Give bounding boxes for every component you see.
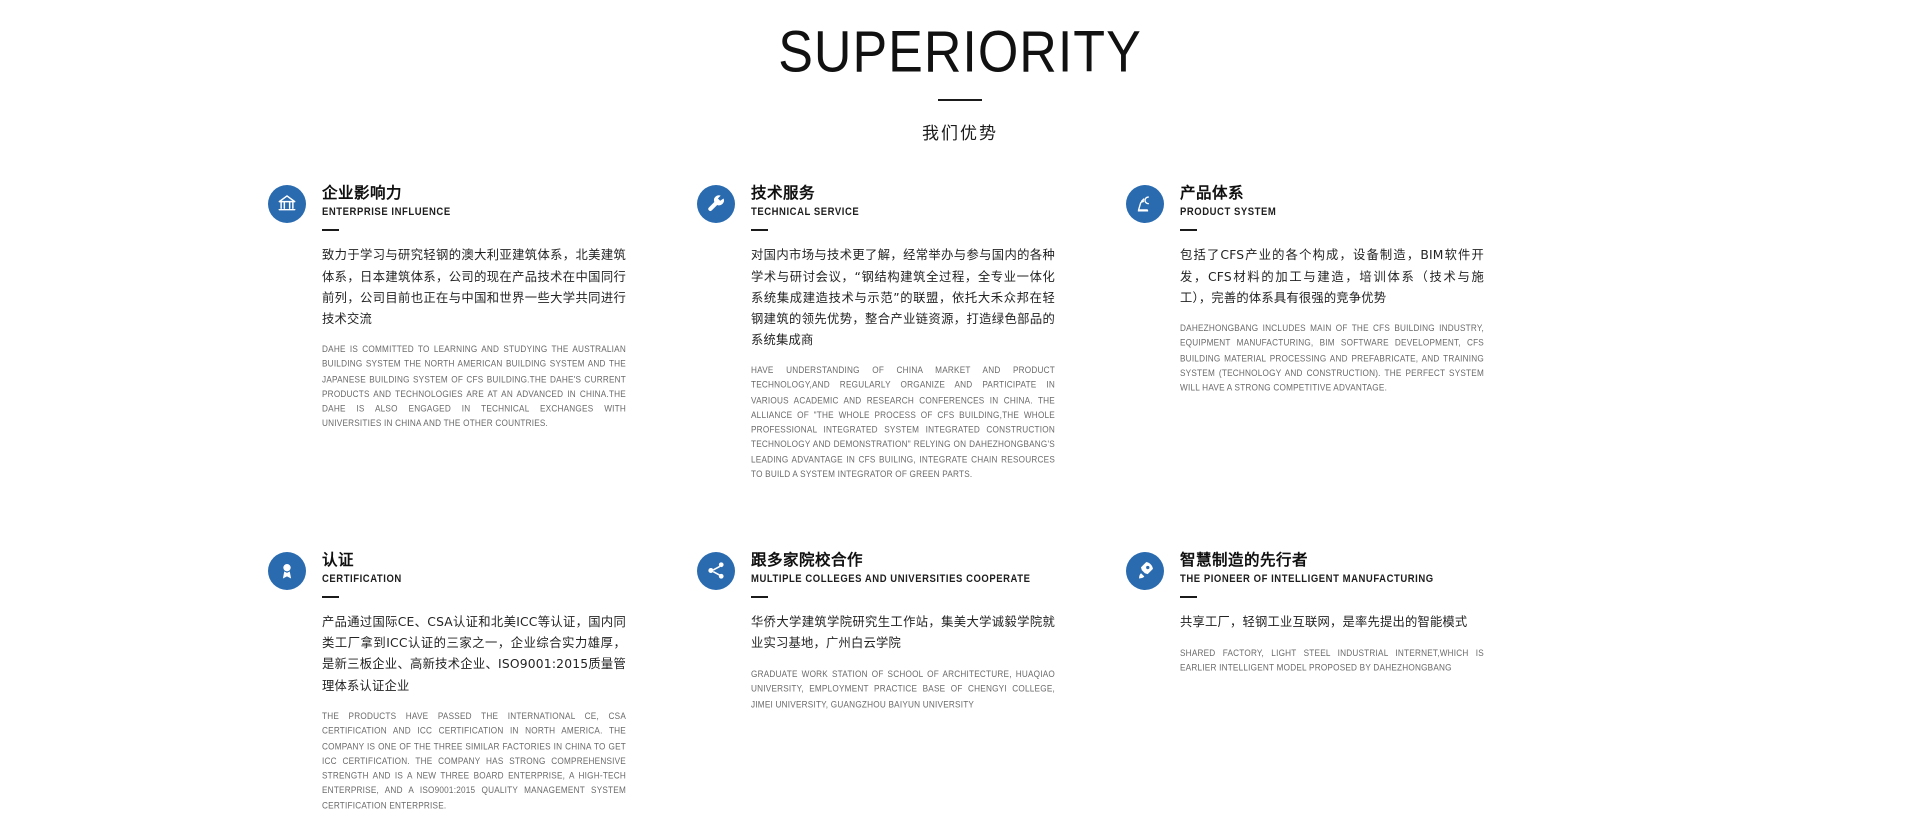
bank-building-icon xyxy=(268,185,306,223)
card-subtitle: CERTIFICATION xyxy=(322,573,402,586)
section-subtitle: 我们优势 xyxy=(0,119,1920,144)
card-body-cn: 共享工厂，轻钢工业互联网，是率先提出的智能模式 xyxy=(1180,612,1484,633)
card-divider xyxy=(1180,229,1197,231)
card-header: 产品体系 PRODUCT SYSTEM xyxy=(1126,183,1484,231)
card-body: 致力于学习与研究轻钢的澳大利亚建筑体系，北美建筑体系，日本建筑体系，公司的现在产… xyxy=(322,245,626,422)
card-body: 华侨大学建筑学院研究生工作站，集美大学诚毅学院就业实习基地，广州白云学院 GRA… xyxy=(751,612,1055,706)
card-title: 产品体系 xyxy=(1180,184,1276,203)
card-divider xyxy=(322,596,339,598)
card-head-text: 产品体系 PRODUCT SYSTEM xyxy=(1180,183,1276,231)
title-divider xyxy=(938,99,982,101)
certificate-icon xyxy=(268,552,306,590)
card-head-text: 跟多家院校合作 MULTIPLE COLLEGES AND UNIVERSITI… xyxy=(751,550,1030,598)
card-head-text: 认证 CERTIFICATION xyxy=(322,550,402,598)
card-subtitle: MULTIPLE COLLEGES AND UNIVERSITIES COOPE… xyxy=(751,573,1030,586)
card-title: 技术服务 xyxy=(751,184,859,203)
superiority-section: SUPERIORITY 我们优势 企业影响力 ENTERPRISE INFLUE… xyxy=(0,0,1920,774)
share-nodes-icon xyxy=(697,552,735,590)
card-divider xyxy=(751,596,768,598)
feature-card-intelligent-manufacturing[interactable]: 智慧制造的先行者 THE PIONEER OF INTELLIGENT MANU… xyxy=(1126,550,1484,810)
card-subtitle: TECHNICAL SERVICE xyxy=(751,206,859,219)
card-body: 对国内市场与技术更了解，经常举办与参与国内的各种学术与研讨会议，“钢结构建筑全过… xyxy=(751,245,1055,469)
card-body-en: DAHE IS COMMITTED TO LEARNING AND STUDYI… xyxy=(322,342,626,431)
card-subtitle: PRODUCT SYSTEM xyxy=(1180,206,1276,219)
card-title: 企业影响力 xyxy=(322,184,451,203)
card-body: 共享工厂，轻钢工业互联网，是率先提出的智能模式 SHARED FACTORY, … xyxy=(1180,612,1484,672)
card-head-text: 技术服务 TECHNICAL SERVICE xyxy=(751,183,859,231)
card-body-cn: 对国内市场与技术更了解，经常举办与参与国内的各种学术与研讨会议，“钢结构建筑全过… xyxy=(751,245,1055,351)
feature-card-certification[interactable]: 认证 CERTIFICATION 产品通过国际CE、CSA认证和北美ICC等认证… xyxy=(268,550,626,810)
card-divider xyxy=(322,229,339,231)
feature-grid: 企业影响力 ENTERPRISE INFLUENCE 致力于学习与研究轻钢的澳大… xyxy=(268,183,1668,810)
card-body-cn: 华侨大学建筑学院研究生工作站，集美大学诚毅学院就业实习基地，广州白云学院 xyxy=(751,612,1055,654)
card-body-cn: 致力于学习与研究轻钢的澳大利亚建筑体系，北美建筑体系，日本建筑体系，公司的现在产… xyxy=(322,245,626,330)
rocket-icon xyxy=(1126,552,1164,590)
feature-card-college-cooperation[interactable]: 跟多家院校合作 MULTIPLE COLLEGES AND UNIVERSITI… xyxy=(697,550,1055,810)
card-body-en: THE PRODUCTS HAVE PASSED THE INTERNATION… xyxy=(322,709,626,813)
card-body-en: SHARED FACTORY, LIGHT STEEL INDUSTRIAL I… xyxy=(1180,646,1484,676)
card-subtitle: THE PIONEER OF INTELLIGENT MANUFACTURING xyxy=(1180,573,1434,586)
card-header: 技术服务 TECHNICAL SERVICE xyxy=(697,183,1055,231)
card-divider xyxy=(751,229,768,231)
page-title: SUPERIORITY xyxy=(0,22,1920,83)
card-header: 认证 CERTIFICATION xyxy=(268,550,626,598)
card-subtitle: ENTERPRISE INFLUENCE xyxy=(322,206,451,219)
card-divider xyxy=(1180,596,1197,598)
card-body: 包括了CFS产业的各个构成，设备制造，BIM软件开发，CFS材料的加工与建造，培… xyxy=(1180,245,1484,387)
feature-card-technical-service[interactable]: 技术服务 TECHNICAL SERVICE 对国内市场与技术更了解，经常举办与… xyxy=(697,183,1055,478)
card-body-en: DAHEZHONGBANG INCLUDES MAIN OF THE CFS B… xyxy=(1180,321,1484,395)
card-head-text: 企业影响力 ENTERPRISE INFLUENCE xyxy=(322,183,451,231)
card-head-text: 智慧制造的先行者 THE PIONEER OF INTELLIGENT MANU… xyxy=(1180,550,1434,598)
feature-card-product-system[interactable]: 产品体系 PRODUCT SYSTEM 包括了CFS产业的各个构成，设备制造，B… xyxy=(1126,183,1484,478)
card-body-cn: 产品通过国际CE、CSA认证和北美ICC等认证，国内同类工厂拿到ICC认证的三家… xyxy=(322,612,626,697)
card-title: 认证 xyxy=(322,551,402,570)
card-title: 智慧制造的先行者 xyxy=(1180,551,1434,570)
card-body-en: GRADUATE WORK STATION OF SCHOOL OF ARCHI… xyxy=(751,667,1055,712)
robot-arm-icon xyxy=(1126,185,1164,223)
wrench-icon xyxy=(697,185,735,223)
card-title: 跟多家院校合作 xyxy=(751,551,1030,570)
section-header: SUPERIORITY 我们优势 xyxy=(0,0,1920,144)
feature-card-enterprise-influence[interactable]: 企业影响力 ENTERPRISE INFLUENCE 致力于学习与研究轻钢的澳大… xyxy=(268,183,626,478)
card-header: 智慧制造的先行者 THE PIONEER OF INTELLIGENT MANU… xyxy=(1126,550,1484,598)
card-body-en: HAVE UNDERSTANDING OF CHINA MARKET AND P… xyxy=(751,363,1055,482)
card-header: 跟多家院校合作 MULTIPLE COLLEGES AND UNIVERSITI… xyxy=(697,550,1055,598)
card-header: 企业影响力 ENTERPRISE INFLUENCE xyxy=(268,183,626,231)
card-body-cn: 包括了CFS产业的各个构成，设备制造，BIM软件开发，CFS材料的加工与建造，培… xyxy=(1180,245,1484,308)
